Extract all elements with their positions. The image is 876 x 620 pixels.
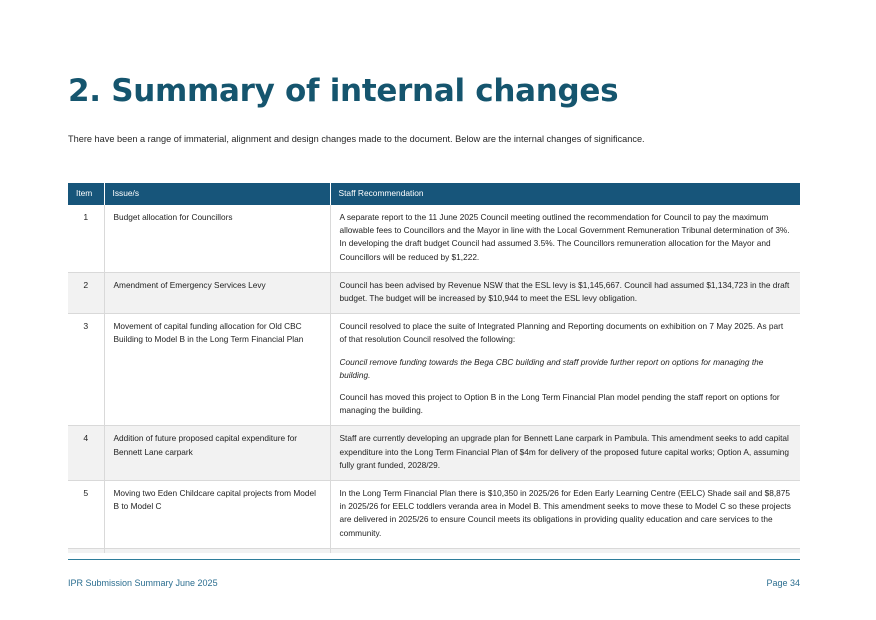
- recommendation-paragraph: Staff are currently developing an upgrad…: [340, 432, 792, 472]
- recommendation-paragraph: Council resolved to place the suite of I…: [340, 320, 792, 346]
- table-header-row: Item Issue/s Staff Recommendation: [68, 183, 800, 205]
- table-row: 5Moving two Eden Childcare capital proje…: [68, 481, 800, 549]
- cell-item: 5: [68, 481, 104, 549]
- table-row: 2Amendment of Emergency Services LevyCou…: [68, 272, 800, 313]
- cell-recommendation: Council has been advised by Revenue NSW …: [330, 272, 800, 313]
- table-row: 3Movement of capital funding allocation …: [68, 314, 800, 426]
- cell-recommendation: Council is currently working on options …: [330, 548, 800, 553]
- column-header-issue: Issue/s: [104, 183, 330, 205]
- document-page: 2. Summary of internal changes There hav…: [0, 0, 876, 620]
- table-body: 1Budget allocation for CouncillorsA sepa…: [68, 205, 800, 553]
- changes-table: Item Issue/s Staff Recommendation 1Budge…: [68, 183, 800, 553]
- column-header-recommendation: Staff Recommendation: [330, 183, 800, 205]
- cell-recommendation: A separate report to the 11 June 2025 Co…: [330, 205, 800, 272]
- cell-issue: Budget allocation for Councillors: [104, 205, 330, 272]
- recommendation-paragraph: Council has been advised by Revenue NSW …: [340, 279, 792, 305]
- footer-divider: [68, 559, 800, 560]
- intro-paragraph: There have been a range of immaterial, a…: [68, 110, 808, 146]
- cell-item: 6: [68, 548, 104, 553]
- recommendation-paragraph: Council remove funding towards the Bega …: [340, 356, 792, 382]
- table-row: 4Addition of future proposed capital exp…: [68, 426, 800, 481]
- recommendation-paragraph: Council has moved this project to Option…: [340, 391, 792, 417]
- table-row: 6Inclusion of proposed future capital co…: [68, 548, 800, 553]
- recommendation-paragraph: In the Long Term Financial Plan there is…: [340, 487, 792, 540]
- footer-document-title: IPR Submission Summary June 2025: [68, 578, 218, 588]
- cell-item: 3: [68, 314, 104, 426]
- table-row: 1Budget allocation for CouncillorsA sepa…: [68, 205, 800, 272]
- cell-item: 2: [68, 272, 104, 313]
- cell-item: 1: [68, 205, 104, 272]
- cell-item: 4: [68, 426, 104, 481]
- page-title: 2. Summary of internal changes: [68, 0, 808, 110]
- cell-issue: Amendment of Emergency Services Levy: [104, 272, 330, 313]
- page-content: 2. Summary of internal changes There hav…: [68, 0, 808, 146]
- cell-recommendation: Council resolved to place the suite of I…: [330, 314, 800, 426]
- column-header-item: Item: [68, 183, 104, 205]
- changes-table-container: Item Issue/s Staff Recommendation 1Budge…: [68, 183, 800, 553]
- page-footer: IPR Submission Summary June 2025 Page 34: [68, 578, 800, 588]
- cell-issue: Movement of capital funding allocation f…: [104, 314, 330, 426]
- cell-recommendation: Staff are currently developing an upgrad…: [330, 426, 800, 481]
- cell-recommendation: In the Long Term Financial Plan there is…: [330, 481, 800, 549]
- footer-page-number: Page 34: [766, 578, 800, 588]
- cell-issue: Moving two Eden Childcare capital projec…: [104, 481, 330, 549]
- table-header: Item Issue/s Staff Recommendation: [68, 183, 800, 205]
- recommendation-paragraph: A separate report to the 11 June 2025 Co…: [340, 211, 792, 264]
- cell-issue: Inclusion of proposed future capital cos…: [104, 548, 330, 553]
- cell-issue: Addition of future proposed capital expe…: [104, 426, 330, 481]
